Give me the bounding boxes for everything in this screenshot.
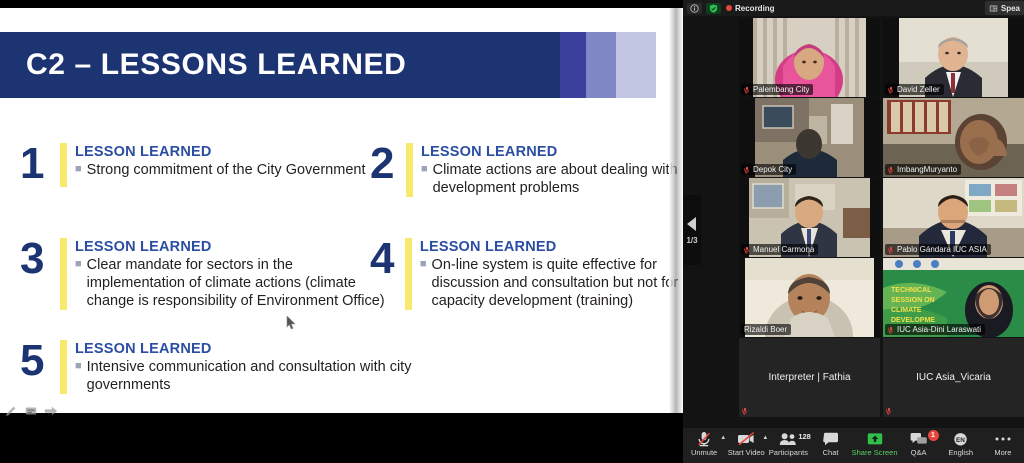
svg-text:DEVELOPME: DEVELOPME: [891, 317, 935, 324]
lesson-heading: LESSON LEARNED: [420, 239, 683, 255]
participant-name-tag: Palembang City: [741, 84, 813, 95]
participant-name-tag: David Zeller: [885, 84, 944, 95]
lessons-grid: 1 LESSON LEARNED ■ Strong commitment of …: [0, 138, 683, 413]
lesson-item-1: 1 LESSON LEARNED ■ Strong commitment of …: [10, 143, 365, 187]
lesson-bullet: ■ On-line system is quite effective for …: [420, 256, 683, 310]
recording-dot-icon: [726, 5, 732, 11]
recording-indicator: Recording: [726, 4, 775, 13]
microphone-muted-icon: [742, 407, 748, 415]
participant-name-tag: IUC Asia-Dini Laraswati: [885, 324, 985, 335]
participants-button[interactable]: 128 Participants: [767, 431, 809, 457]
video-muted-icon: [737, 431, 755, 447]
svg-text:CLIMATE: CLIMATE: [891, 307, 922, 314]
bullet-dot-icon: ■: [75, 161, 82, 178]
participant-tile[interactable]: Palembang City: [739, 18, 880, 97]
view-mode-button[interactable]: Spea: [985, 1, 1024, 15]
bullet-dot-icon: ■: [75, 256, 82, 273]
page-title: C2 – LESSONS LEARNED: [0, 48, 406, 82]
lesson-accent-bar: [406, 143, 413, 197]
participants-label: Participants: [769, 448, 808, 457]
microphone-muted-icon: [888, 86, 894, 94]
interpretation-button[interactable]: EN English: [940, 431, 982, 457]
interpretation-icon: EN: [953, 431, 968, 447]
participant-name: IUC Asia-Dini Laraswati: [897, 325, 981, 334]
more-button[interactable]: More: [982, 431, 1024, 457]
chevron-left-icon: [686, 216, 698, 232]
lesson-text: Strong commitment of the City Government: [87, 161, 366, 179]
pencil-icon[interactable]: [3, 404, 19, 418]
arrow-icon[interactable]: [43, 404, 59, 418]
lesson-accent-bar: [60, 340, 67, 394]
title-stripe-2: [586, 32, 616, 98]
participant-name: Palembang City: [753, 85, 809, 94]
participant-name: Rizaldi Boer: [744, 325, 787, 334]
svg-text:TECHNICAL: TECHNICAL: [891, 287, 932, 294]
qa-button[interactable]: 1 Q&A: [898, 431, 940, 457]
lesson-heading: LESSON LEARNED: [421, 144, 683, 160]
lesson-bullet: ■ Intensive communication and consultati…: [75, 358, 417, 394]
microphone-muted-icon: [697, 431, 711, 447]
qa-icon: [910, 431, 928, 447]
meeting-toolbar: Unmute ▲ Start Video ▲: [683, 428, 1024, 463]
note-icon[interactable]: [23, 404, 39, 418]
recording-label: Recording: [735, 4, 775, 13]
lesson-bullet: ■ Clear mandate for sectors in the imple…: [75, 256, 387, 310]
microphone-muted-icon: [888, 246, 894, 254]
unmute-button[interactable]: Unmute ▲: [683, 431, 725, 457]
lesson-number: 1: [10, 143, 60, 184]
chat-button[interactable]: Chat: [809, 431, 851, 457]
participant-name-tag: ImbangMuryanto: [885, 164, 961, 175]
more-label: More: [994, 448, 1011, 457]
microphone-muted-icon: [888, 326, 894, 334]
lesson-text: On-line system is quite effective for di…: [432, 256, 683, 310]
lesson-text: Clear mandate for sectors in the impleme…: [87, 256, 387, 310]
more-icon: [994, 431, 1012, 447]
lesson-heading: LESSON LEARNED: [75, 144, 365, 160]
qa-badge: 1: [928, 430, 939, 441]
lesson-item-3: 3 LESSON LEARNED ■ Clear mandate for sec…: [10, 238, 387, 310]
participant-name: Manuel Carmona: [753, 245, 814, 254]
participant-name: ImbangMuryanto: [897, 165, 957, 174]
presentation-slide: C2 – LESSONS LEARNED 1 LESSON LEARNED ■ …: [0, 8, 683, 413]
encryption-button[interactable]: [706, 3, 721, 14]
participant-tile[interactable]: ImbangMuryanto: [883, 98, 1024, 177]
microphone-muted-icon: [744, 86, 750, 94]
microphone-muted-icon: [744, 246, 750, 254]
title-stripe-1: [560, 32, 586, 98]
meeting-status-bar: Recording Spea: [683, 0, 1024, 16]
grid-view-icon: [989, 4, 998, 13]
svg-text:SESSION ON: SESSION ON: [891, 297, 935, 304]
bullet-dot-icon: ■: [421, 161, 428, 178]
chat-icon: [823, 431, 839, 447]
participant-tile[interactable]: Interpreter | Fathia: [739, 338, 880, 417]
qa-label: Q&A: [911, 448, 927, 457]
participant-name: Depok City: [753, 165, 792, 174]
lesson-item-2: 2 LESSON LEARNED ■ Climate actions are a…: [360, 143, 683, 197]
microphone-muted-icon: [886, 407, 892, 415]
participant-name-tag: Rizaldi Boer: [741, 324, 791, 335]
meeting-info-button[interactable]: [687, 3, 702, 14]
shared-screen-area: C2 – LESSONS LEARNED 1 LESSON LEARNED ■ …: [0, 0, 683, 463]
start-video-button[interactable]: Start Video ▲: [725, 431, 767, 457]
lesson-accent-bar: [60, 143, 67, 187]
shield-icon: [709, 4, 718, 13]
page-indicator: 1/3: [686, 236, 697, 245]
participant-tile[interactable]: IUC Asia_Vicaria: [883, 338, 1024, 417]
participant-tile[interactable]: Depok City: [739, 98, 880, 177]
interpretation-label: English: [948, 448, 973, 457]
info-icon: [690, 4, 699, 13]
participant-tile[interactable]: Pablo Gándara IUC ASIA: [883, 178, 1024, 257]
lesson-bullet: ■ Climate actions are about dealing with…: [421, 161, 683, 197]
lesson-heading: LESSON LEARNED: [75, 239, 387, 255]
participant-name-tag: Pablo Gándara IUC ASIA: [885, 244, 991, 255]
bullet-dot-icon: ■: [420, 256, 427, 273]
participant-name: IUC Asia_Vicaria: [910, 372, 997, 383]
share-screen-icon: [867, 431, 883, 447]
unmute-label: Unmute: [691, 448, 717, 457]
annotation-toolbar[interactable]: [3, 404, 59, 418]
view-mode-label: Spea: [1001, 4, 1020, 13]
microphone-muted-icon: [744, 166, 750, 174]
participant-name: David Zeller: [897, 85, 940, 94]
lesson-number: 5: [10, 340, 60, 381]
lesson-item-4: 4 LESSON LEARNED ■ On-line system is qui…: [360, 238, 683, 310]
participant-name: Pablo Gándara IUC ASIA: [897, 245, 987, 254]
participant-name-tag: Manuel Carmona: [741, 244, 818, 255]
participant-name: Interpreter | Fathia: [762, 372, 856, 383]
lesson-text: Intensive communication and consultation…: [87, 358, 417, 394]
lesson-text: Climate actions are about dealing with d…: [433, 161, 683, 197]
lesson-number: 4: [360, 238, 405, 279]
lesson-accent-bar: [405, 238, 412, 310]
video-sidebar: Recording Spea 1/3: [683, 0, 1024, 463]
lesson-number: 2: [360, 143, 406, 184]
svg-text:EN: EN: [956, 437, 965, 444]
participant-tile[interactable]: TECHNICAL SESSION ON CLIMATE DEVELOPME: [883, 258, 1024, 337]
lesson-bullet: ■ Strong commitment of the City Governme…: [75, 161, 365, 179]
lesson-number: 3: [10, 238, 60, 279]
sidebar-collapse-button[interactable]: 1/3: [683, 195, 701, 265]
lesson-heading: LESSON LEARNED: [75, 341, 417, 357]
share-screen-button[interactable]: Share Screen: [852, 431, 898, 457]
participant-tile-grid: Palembang City: [739, 18, 1024, 420]
chat-label: Chat: [823, 448, 839, 457]
participant-tile-active-speaker[interactable]: Rizaldi Boer: [739, 258, 880, 337]
lesson-item-5: 5 LESSON LEARNED ■ Intensive communicati…: [10, 340, 417, 394]
participant-tile[interactable]: Manuel Carmona: [739, 178, 880, 257]
share-screen-label: Share Screen: [852, 448, 898, 457]
participant-name-tag: Depok City: [741, 164, 796, 175]
microphone-muted-icon: [888, 166, 894, 174]
participant-tile[interactable]: David Zeller: [883, 18, 1024, 97]
participants-icon: [779, 431, 797, 447]
lesson-accent-bar: [60, 238, 67, 310]
title-stripe-3: [616, 32, 656, 98]
start-video-label: Start Video: [728, 448, 765, 457]
zoom-meeting-window: C2 – LESSONS LEARNED 1 LESSON LEARNED ■ …: [0, 0, 1024, 463]
slide-title-band: C2 – LESSONS LEARNED: [0, 32, 560, 98]
bullet-dot-icon: ■: [75, 358, 82, 375]
